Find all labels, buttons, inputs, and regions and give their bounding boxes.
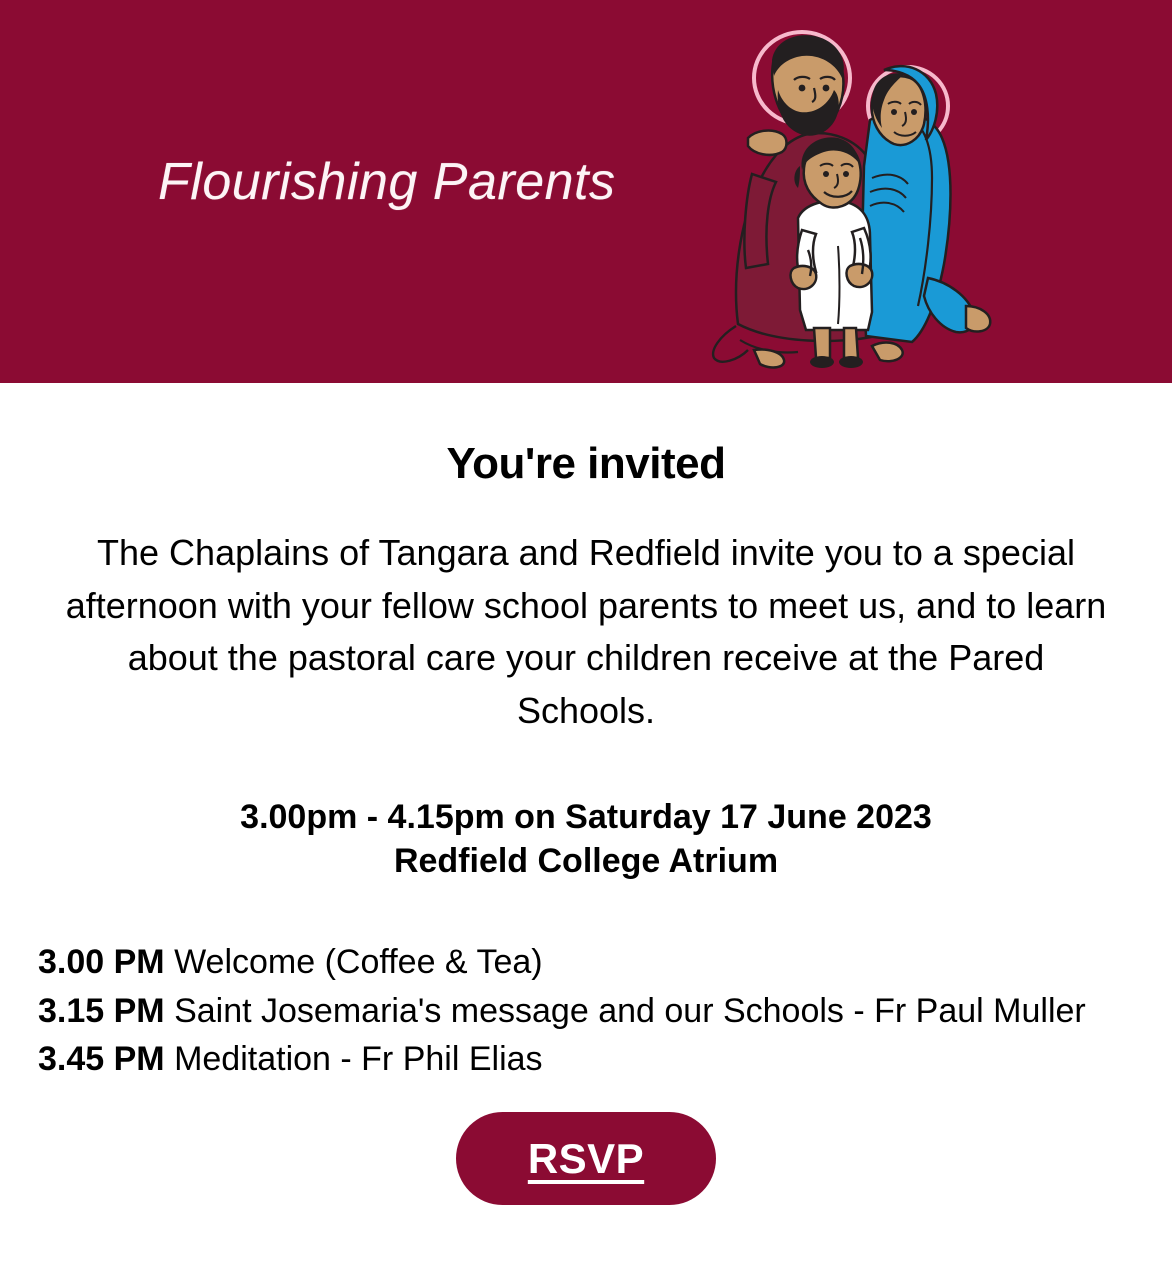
banner-title: Flourishing Parents	[158, 152, 616, 212]
list-item: 3.00 PM Welcome (Coffee & Tea)	[38, 938, 1136, 987]
list-item: 3.45 PM Meditation - Fr Phil Elias	[38, 1035, 1136, 1084]
rsvp-container: RSVP	[36, 1084, 1136, 1205]
rsvp-button[interactable]: RSVP	[456, 1112, 716, 1205]
schedule-description: Meditation - Fr Phil Elias	[174, 1040, 542, 1078]
event-datetime: 3.00pm - 4.15pm on Saturday 17 June 2023	[36, 795, 1136, 839]
page-title: You're invited	[36, 383, 1136, 489]
invitation-paragraph: The Chaplains of Tangara and Redfield in…	[36, 489, 1136, 737]
schedule-description: Welcome (Coffee & Tea)	[174, 943, 543, 981]
event-details: 3.00pm - 4.15pm on Saturday 17 June 2023…	[36, 737, 1136, 883]
event-venue: Redfield College Atrium	[36, 839, 1136, 883]
schedule-time: 3.00 PM	[38, 943, 165, 981]
schedule-description: Saint Josemaria's message and our School…	[174, 992, 1086, 1030]
holy-family-illustration	[680, 6, 1020, 378]
schedule-list: 3.00 PM Welcome (Coffee & Tea) 3.15 PM S…	[36, 884, 1136, 1085]
invitation-content: You're invited The Chaplains of Tangara …	[0, 383, 1172, 1205]
schedule-time: 3.15 PM	[38, 992, 165, 1030]
banner: Flourishing Parents	[0, 0, 1172, 383]
schedule-time: 3.45 PM	[38, 1040, 165, 1078]
list-item: 3.15 PM Saint Josemaria's message and ou…	[38, 987, 1136, 1036]
